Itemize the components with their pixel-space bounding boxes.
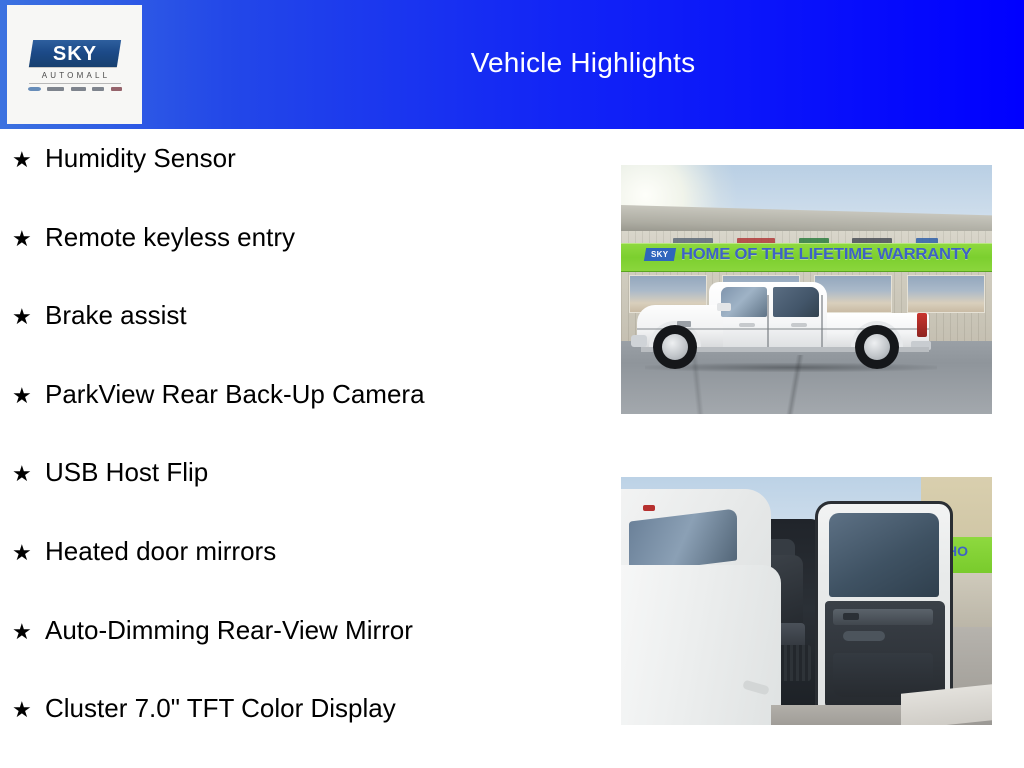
list-item-label: Brake assist <box>45 302 187 328</box>
banner-sky-badge-text: SKY <box>651 250 668 259</box>
star-icon: ★ <box>12 149 45 171</box>
rear-door-window <box>829 513 939 597</box>
list-item-label: Auto-Dimming Rear-View Mirror <box>45 617 413 643</box>
list-item-label: ParkView Rear Back-Up Camera <box>45 381 425 407</box>
list-item-label: Humidity Sensor <box>45 145 236 171</box>
ram-logo-icon <box>92 87 104 91</box>
vehicle-highlights-list: ★ Humidity Sensor ★ Remote keyless entry… <box>0 145 600 755</box>
oem-brand-strip <box>28 87 122 91</box>
star-icon: ★ <box>12 228 45 250</box>
window-pane <box>907 275 985 313</box>
interior-door-handle <box>843 631 885 641</box>
list-item: ★ Remote keyless entry <box>0 224 600 303</box>
page-title: Vehicle Highlights <box>142 0 1024 129</box>
rear-door-window <box>773 287 819 317</box>
dealer-logo-inner: SKY AUTOMALL <box>23 40 127 91</box>
list-item: ★ USB Host Flip <box>0 459 600 538</box>
automall-subtitle: AUTOMALL <box>39 72 111 80</box>
list-item: ★ Humidity Sensor <box>0 145 600 224</box>
jeep-logo-icon <box>71 87 86 91</box>
front-door-handle <box>739 323 755 327</box>
star-icon: ★ <box>12 385 45 407</box>
list-item-label: Remote keyless entry <box>45 224 295 250</box>
front-bumper <box>631 335 647 347</box>
door-seam-rear <box>821 295 823 349</box>
door-seam-front <box>767 295 769 349</box>
list-item-label: Heated door mirrors <box>45 538 276 564</box>
star-icon: ★ <box>12 621 45 643</box>
chrysler-logo-icon <box>28 87 41 91</box>
list-item-label: Cluster 7.0" TFT Color Display <box>45 695 396 721</box>
tail-light <box>917 313 927 337</box>
star-icon: ★ <box>12 699 45 721</box>
star-icon: ★ <box>12 306 45 328</box>
logo-divider <box>29 83 121 84</box>
sky-badge-text: SKY <box>52 44 96 64</box>
star-icon: ★ <box>12 463 45 485</box>
list-item: ★ Heated door mirrors <box>0 538 600 617</box>
warranty-banner-text: HOME OF THE LIFETIME WARRANTY <box>681 246 992 264</box>
side-mirror <box>717 303 731 311</box>
list-item: ★ ParkView Rear Back-Up Camera <box>0 381 600 460</box>
sky-badge-icon: SKY <box>28 40 120 67</box>
vehicle-shadow <box>645 363 937 372</box>
banner-sky-badge: SKY <box>644 248 676 261</box>
exterior-vehicle-photo: SKY HOME OF THE LIFETIME WARRANTY <box>621 165 992 414</box>
fiat-logo-icon <box>111 87 122 91</box>
front-rim <box>662 334 688 360</box>
door-storage-pocket <box>833 653 933 697</box>
window-switch <box>843 613 859 620</box>
list-item: ★ Cluster 7.0" TFT Color Display <box>0 695 600 768</box>
interior-vehicle-photo: HO <box>621 477 992 725</box>
list-item-label: USB Host Flip <box>45 459 208 485</box>
list-item: ★ Auto-Dimming Rear-View Mirror <box>0 617 600 696</box>
star-icon: ★ <box>12 542 45 564</box>
slide-header: SKY AUTOMALL Vehicle Highlights <box>0 0 1024 129</box>
dealer-logo: SKY AUTOMALL <box>7 5 142 124</box>
cab-marker-lamp <box>643 505 655 511</box>
front-door-window <box>721 287 767 317</box>
rear-rim <box>864 334 890 360</box>
truck-body-lower-panel <box>621 565 781 725</box>
rear-door-handle <box>791 323 807 327</box>
slide-root: SKY AUTOMALL Vehicle Highlights ★ Humidi… <box>0 0 1024 768</box>
dodge-logo-icon <box>47 87 64 91</box>
list-item: ★ Brake assist <box>0 302 600 381</box>
